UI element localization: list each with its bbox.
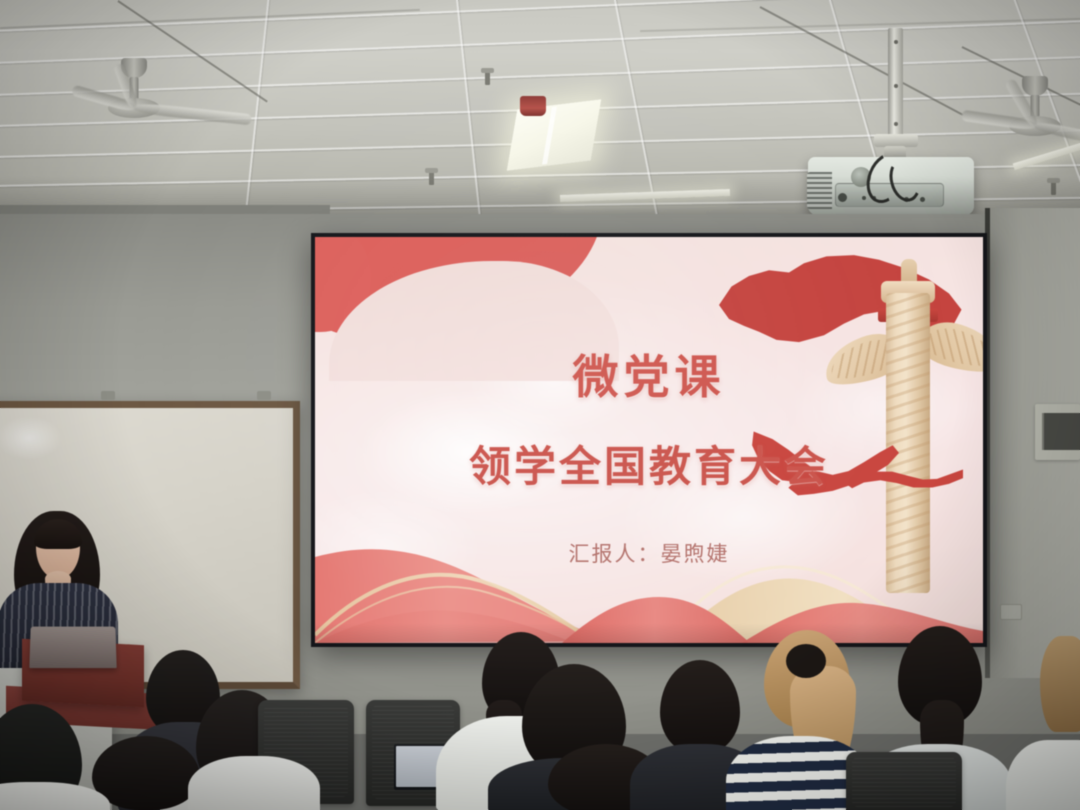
presentation-slide: 微党课 领学全国教育大会 汇报人：晏煦婕 xyxy=(315,237,983,643)
audience-head xyxy=(1040,636,1080,732)
audience-torso xyxy=(188,756,320,810)
projection-screen[interactable]: 微党课 领学全国教育大会 汇报人：晏煦婕 xyxy=(311,233,987,647)
hair-tie xyxy=(786,644,826,678)
classroom-photo: 微党课 领学全国教育大会 汇报人：晏煦婕 xyxy=(0,0,1080,810)
framed-panel xyxy=(1035,404,1080,460)
ceiling-fan-left xyxy=(74,58,194,138)
ceiling-fan-right xyxy=(970,76,1080,156)
chair[interactable] xyxy=(846,752,962,810)
audience-arm xyxy=(1006,740,1080,810)
presenter-laptop[interactable] xyxy=(29,627,116,668)
wall-outlet-plate[interactable] xyxy=(1000,604,1022,620)
ceiling xyxy=(0,0,1080,236)
sprinkler-head-icon xyxy=(485,72,490,85)
audience-head xyxy=(660,660,740,754)
fire-alarm-bell-icon xyxy=(520,96,546,116)
